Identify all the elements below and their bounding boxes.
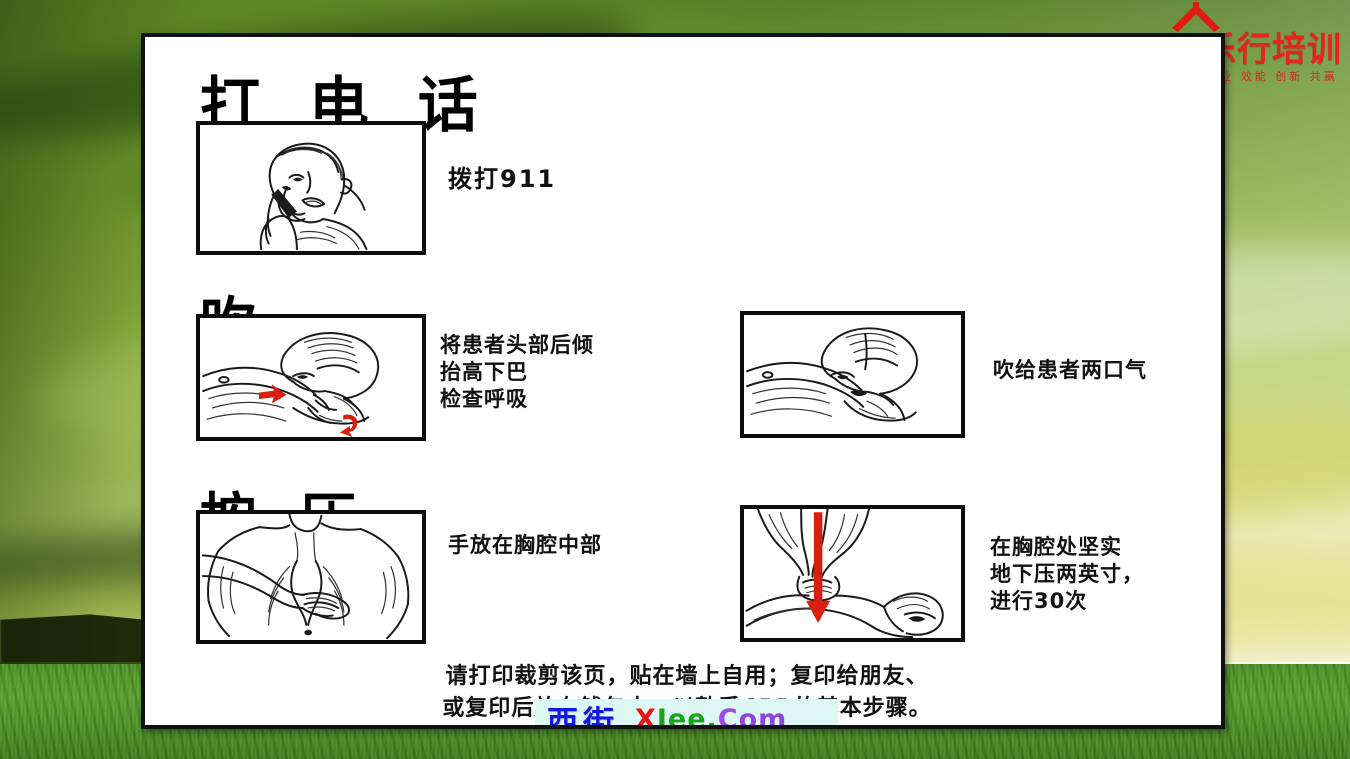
watermark-letter: e (687, 704, 706, 730)
watermark-letter: o (739, 704, 759, 730)
slide-canvas: 乐行培训 专业 效能 创新 共赢 打 电 话 (0, 0, 1350, 759)
cpr-poster: 打 电 话 (141, 33, 1225, 729)
watermark-en-text: XJee.Com (619, 704, 787, 730)
woman-on-phone-illustration (196, 121, 426, 255)
tilt-head-open-airway-illustration (196, 314, 426, 441)
caption-hand-placement: 手放在胸腔中部 (448, 532, 602, 559)
caption-call-911: 拨打911 (448, 164, 556, 195)
hand-placement-chest-illustration (196, 510, 426, 644)
watermark-letter: m (758, 704, 787, 730)
watermark-cn-text: 西街 (535, 697, 619, 730)
watermark-letter: C (718, 704, 739, 730)
caption-two-breaths: 吹给患者两口气 (993, 357, 1147, 384)
watermark-letter: e (668, 704, 687, 730)
watermark-letter: J (657, 704, 668, 730)
caption-compression-depth: 在胸腔处坚实 地下压两英寸， 进行30次 (990, 534, 1144, 615)
watermark-letter: . (707, 704, 718, 730)
site-watermark: 西街 XJee.Com (535, 699, 838, 729)
rescue-breath-illustration (740, 311, 965, 438)
chest-compression-illustration (740, 505, 965, 642)
footer-line-1: 请打印裁剪该页，贴在墙上自用；复印给朋友、 (145, 661, 1225, 693)
watermark-letter: X (635, 704, 657, 730)
caption-open-airway: 将患者头部后倾 抬高下巴 检查呼吸 (440, 332, 594, 413)
